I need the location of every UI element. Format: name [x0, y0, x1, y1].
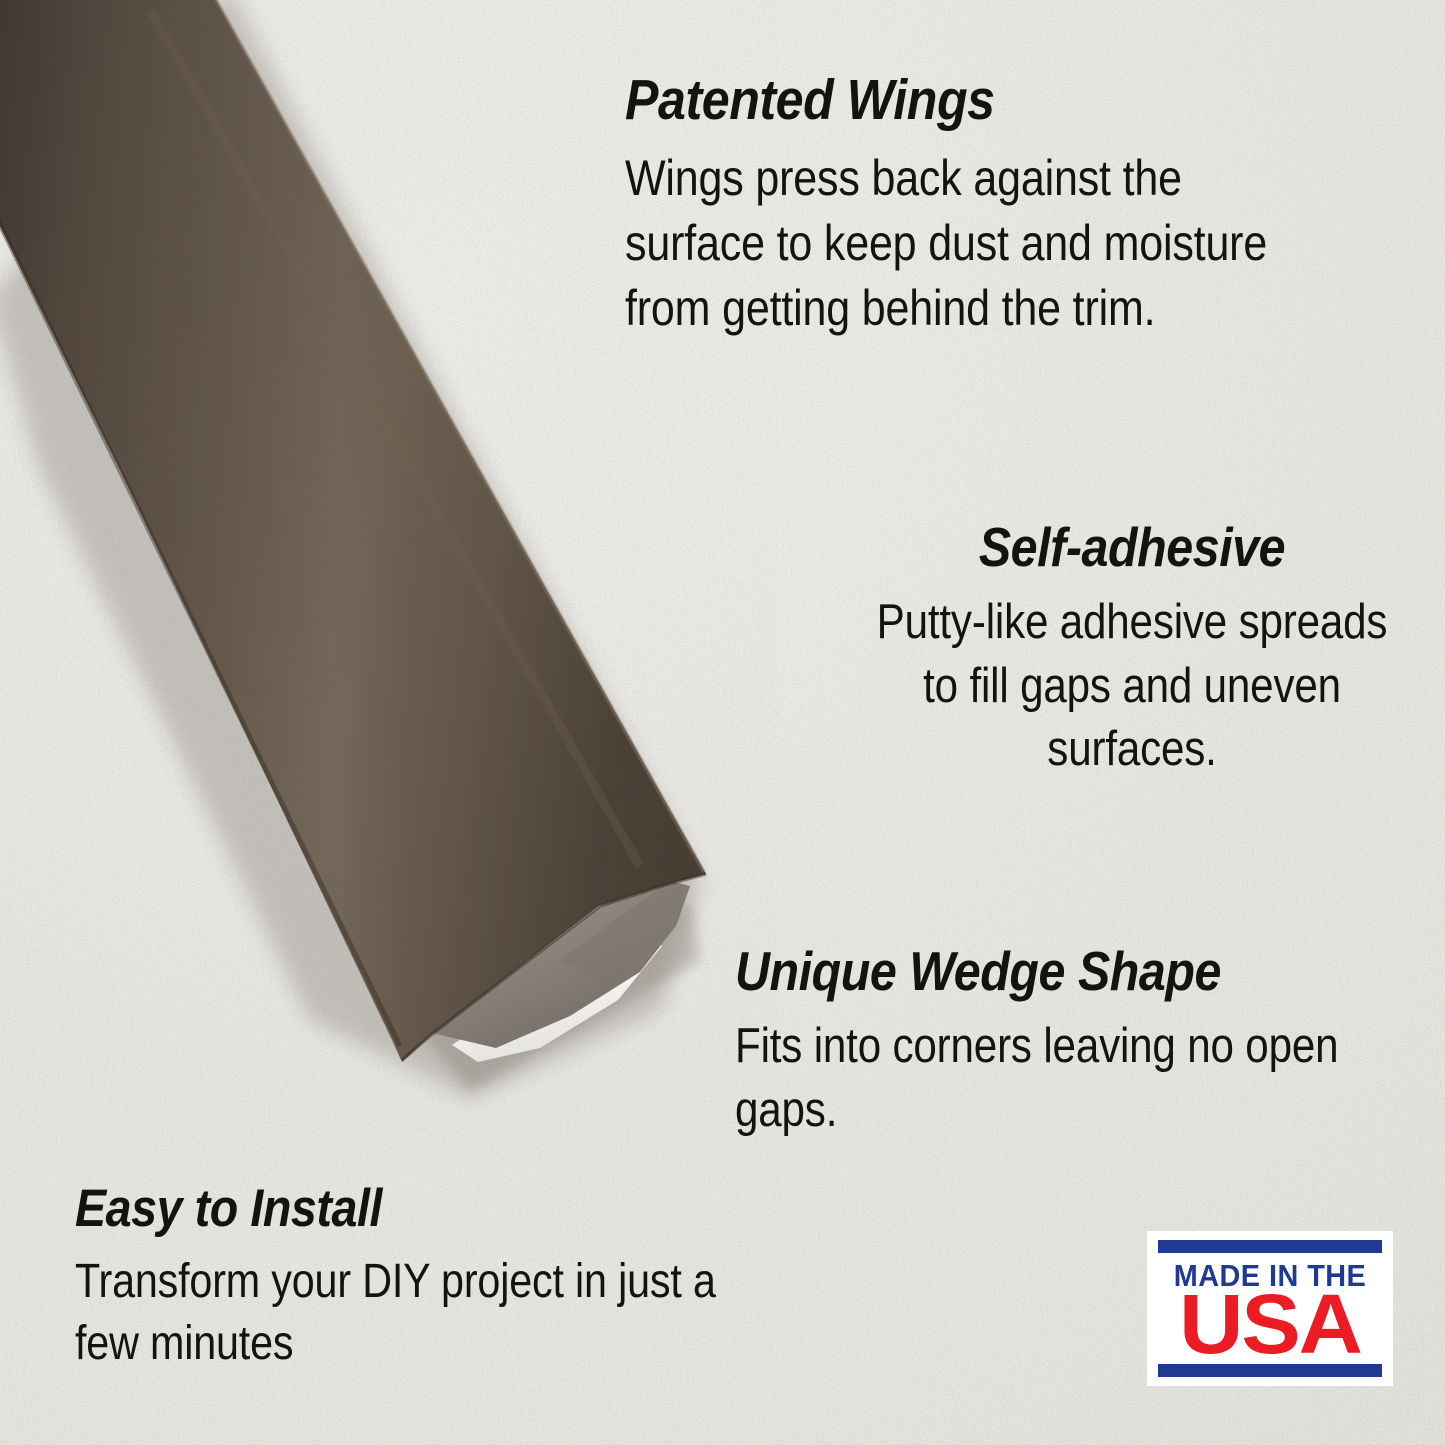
feature-body-easy-to-install: Transform your DIY project in just a few…	[75, 1251, 729, 1376]
badge-top-bar	[1158, 1240, 1382, 1253]
feature-heading-patented-wings: Patented Wings	[625, 72, 1294, 129]
feature-block-easy-to-install: Easy to Install Transform your DIY proje…	[75, 1182, 835, 1376]
feature-block-self-adhesive: Self-adhesive Putty-like adhesive spread…	[822, 520, 1442, 782]
feature-block-patented-wings: Patented Wings Wings press back against …	[625, 72, 1385, 341]
feature-body-patented-wings: Wings press back against the surface to …	[625, 146, 1279, 341]
infographic-canvas: Patented Wings Wings press back against …	[0, 0, 1445, 1445]
feature-heading-self-adhesive: Self-adhesive	[859, 520, 1405, 575]
badge-usa-text: USA	[1151, 1290, 1388, 1359]
feature-heading-unique-wedge-shape: Unique Wedge Shape	[735, 944, 1404, 999]
made-in-usa-badge: MADE IN THE USA	[1147, 1231, 1393, 1386]
feature-body-unique-wedge-shape: Fits into corners leaving no open gaps.	[735, 1015, 1389, 1142]
feature-heading-easy-to-install: Easy to Install	[75, 1182, 744, 1235]
feature-body-self-adhesive: Putty-like adhesive spreads to fill gaps…	[865, 591, 1398, 782]
feature-block-unique-wedge-shape: Unique Wedge Shape Fits into corners lea…	[735, 944, 1445, 1142]
